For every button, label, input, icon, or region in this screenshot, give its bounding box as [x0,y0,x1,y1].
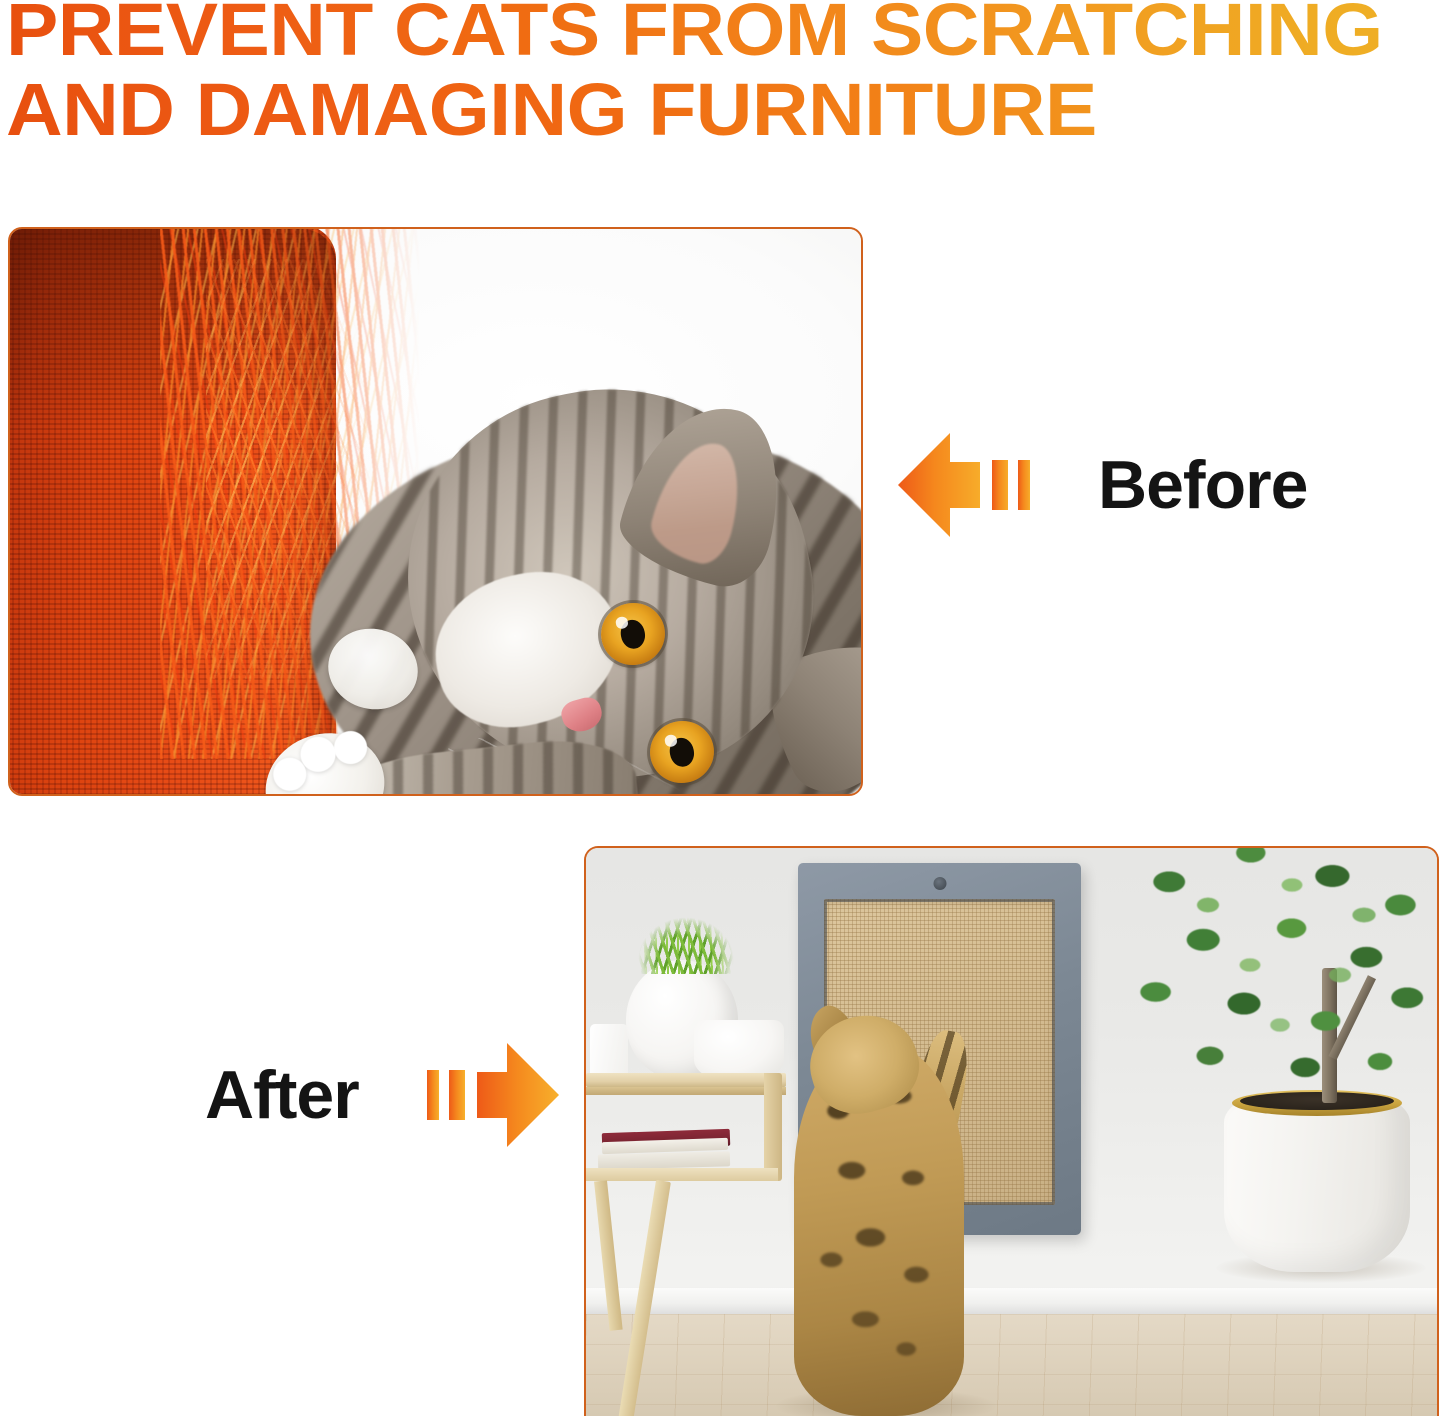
side-table-top-edge [586,1087,786,1095]
ficus-planter [1224,1094,1410,1272]
small-green-plant [634,896,738,974]
room-baseboard [586,1288,1437,1314]
after-callout: After [205,1040,559,1150]
white-bowl [694,1020,784,1080]
side-table-shelf [586,1168,778,1181]
arrow-left-icon [898,430,1058,540]
headline: PREVENT CATS FROM SCRATCHING AND DAMAGIN… [6,0,1441,144]
arrow-right-icon [399,1040,559,1150]
after-photo: Bengal cat using a wall-mounted sisal sc… [584,846,1439,1416]
before-label: Before [1098,451,1307,519]
before-photo: Tabby cat clawing a shredded orange upho… [8,227,863,796]
side-table-side-panel [764,1073,782,1181]
before-photo-scene [10,229,861,794]
before-callout: Before [898,430,1307,540]
side-table-top [586,1073,786,1087]
headline-line-1: PREVENT CATS FROM SCRATCHING [6,0,1445,64]
after-label: After [205,1061,359,1129]
headline-line-2: AND DAMAGING FURNITURE [6,76,1445,144]
after-photo-scene [586,848,1437,1416]
ficus-foliage-highlights [1142,848,1437,1080]
scratcher-mount-screw [933,877,946,890]
floor-plank-lines [586,1314,1437,1416]
